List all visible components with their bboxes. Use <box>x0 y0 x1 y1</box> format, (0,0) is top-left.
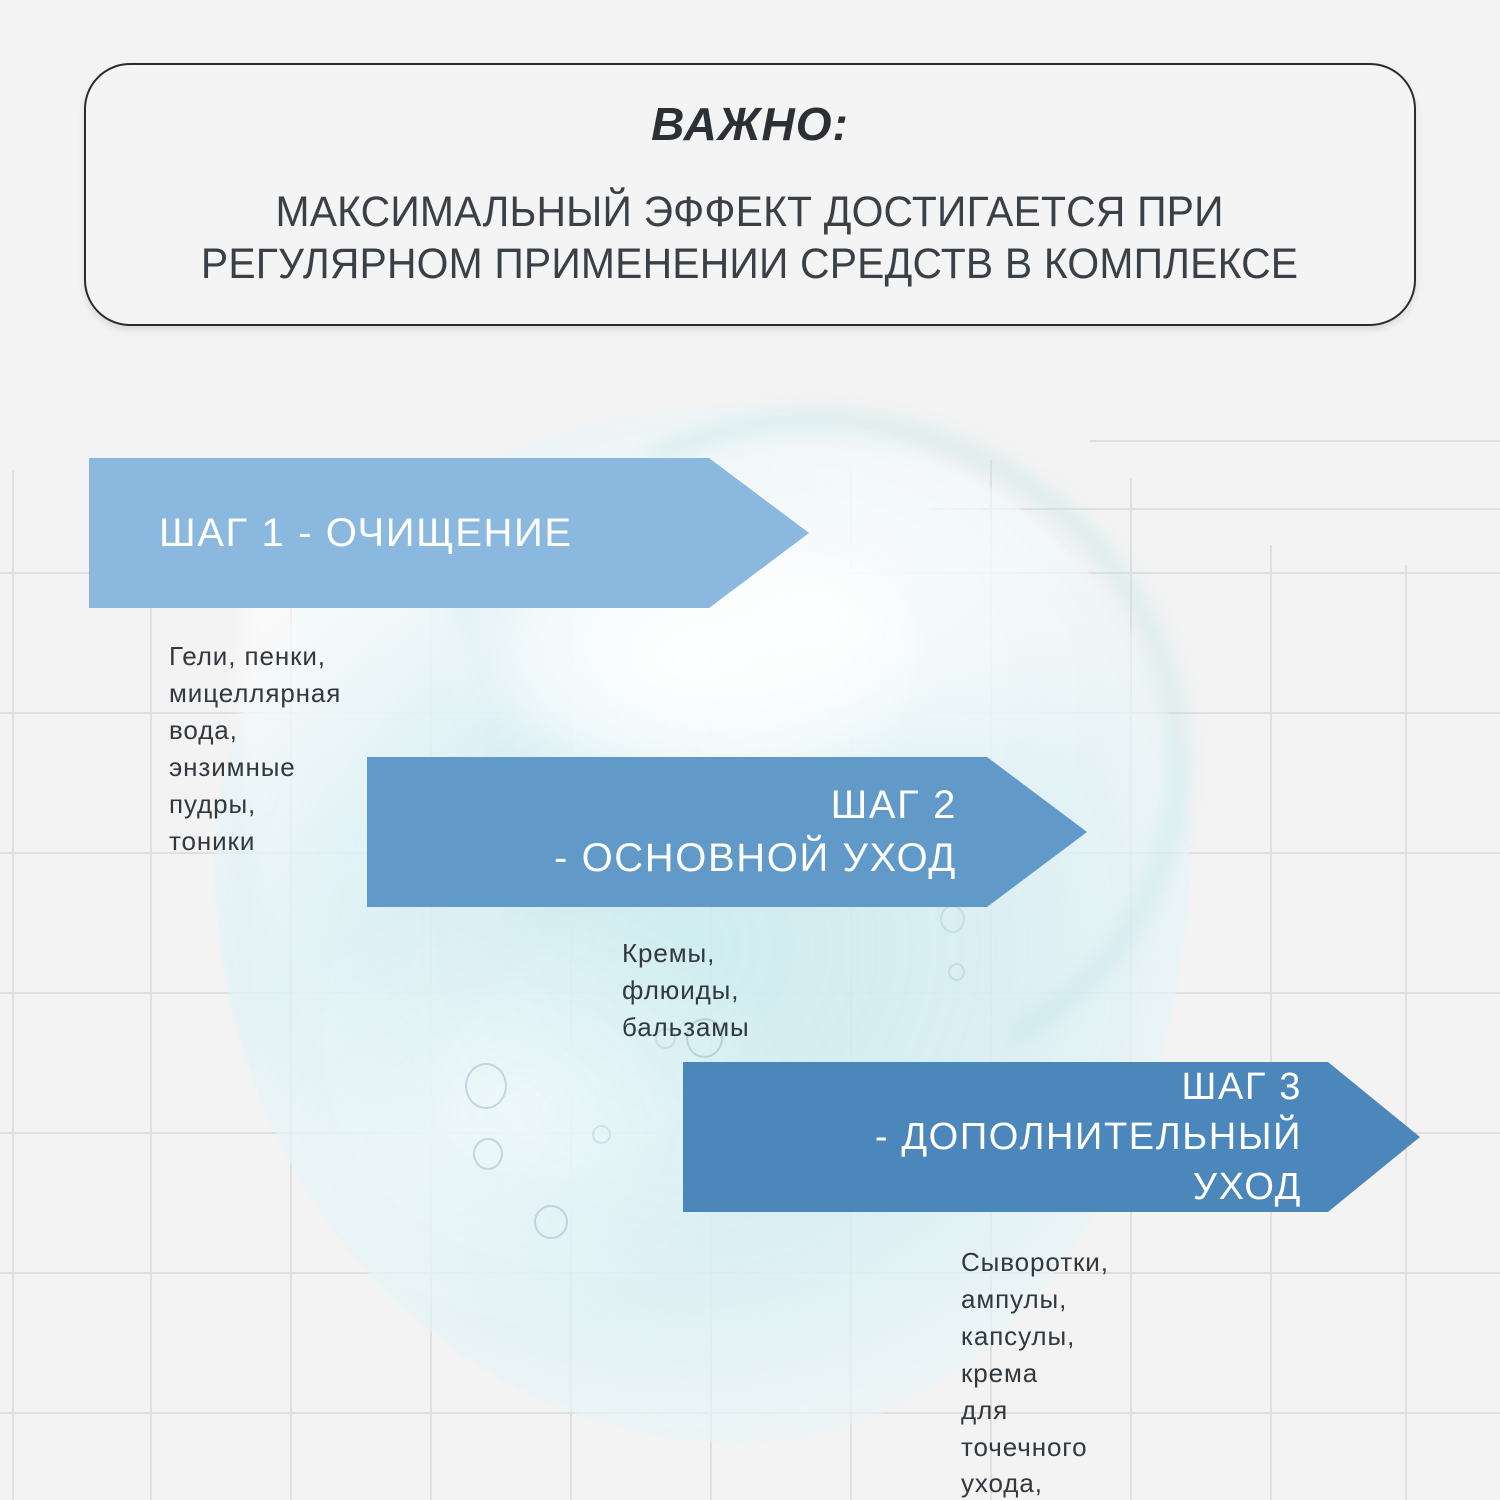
infographic-canvas: ВАЖНО: МАКСИМАЛЬНЫЙ ЭФФЕКТ ДОСТИГАЕТСЯ П… <box>0 0 1500 1500</box>
bubble-icon <box>948 963 965 981</box>
important-callout-box: ВАЖНО: МАКСИМАЛЬНЫЙ ЭФФЕКТ ДОСТИГАЕТСЯ П… <box>84 63 1416 326</box>
grid-line-v <box>1270 545 1272 1500</box>
step-2-description: Кремы, флюиды, бальзамы <box>622 935 750 1046</box>
grid-line-h <box>0 1272 1500 1274</box>
callout-subtitle: МАКСИМАЛЬНЫЙ ЭФФЕКТ ДОСТИГАЕТСЯ ПРИ РЕГУ… <box>201 186 1298 291</box>
step-3-label: ШАГ 3 - ДОПОЛНИТЕЛЬНЫЙ УХОД <box>743 1062 1302 1212</box>
grid-line-v <box>1130 478 1132 1500</box>
step-1-description: Гели, пенки, мицеллярная вода, энзимные … <box>169 638 341 859</box>
callout-title: ВАЖНО: <box>651 99 849 150</box>
grid-line-h <box>930 508 1500 510</box>
bubble-icon <box>940 905 965 933</box>
grid-line-v <box>710 600 712 1500</box>
bubble-icon <box>473 1138 503 1170</box>
bubble-icon <box>465 1063 507 1109</box>
gel-blob-rim <box>392 329 1266 1169</box>
step-2-label: ШАГ 2 - ОСНОВНОЙ УХОД <box>427 779 957 885</box>
bubble-icon <box>592 1125 611 1144</box>
step-1-label: ШАГ 1 - ОЧИЩЕНИЕ <box>159 507 689 560</box>
grid-line-v <box>430 560 432 1500</box>
grid-line-h <box>0 1412 1500 1414</box>
step-1-arrow[interactable]: ШАГ 1 - ОЧИЩЕНИЕ <box>89 458 809 608</box>
step-3-arrow[interactable]: ШАГ 3 - ДОПОЛНИТЕЛЬНЫЙ УХОД <box>683 1062 1420 1212</box>
grid-line-v <box>12 470 14 1500</box>
grid-line-v <box>850 470 852 1500</box>
bubble-icon <box>534 1205 568 1239</box>
grid-line-h <box>0 992 1500 994</box>
grid-line-v <box>150 555 152 1500</box>
step-2-arrow[interactable]: ШАГ 2 - ОСНОВНОЙ УХОД <box>367 757 1087 907</box>
grid-line-h <box>1090 440 1500 442</box>
step-3-description: Сыворотки, ампулы, капсулы, крема для то… <box>961 1244 1109 1500</box>
grid-line-v <box>570 620 572 1500</box>
grid-line-v <box>1405 565 1407 1500</box>
